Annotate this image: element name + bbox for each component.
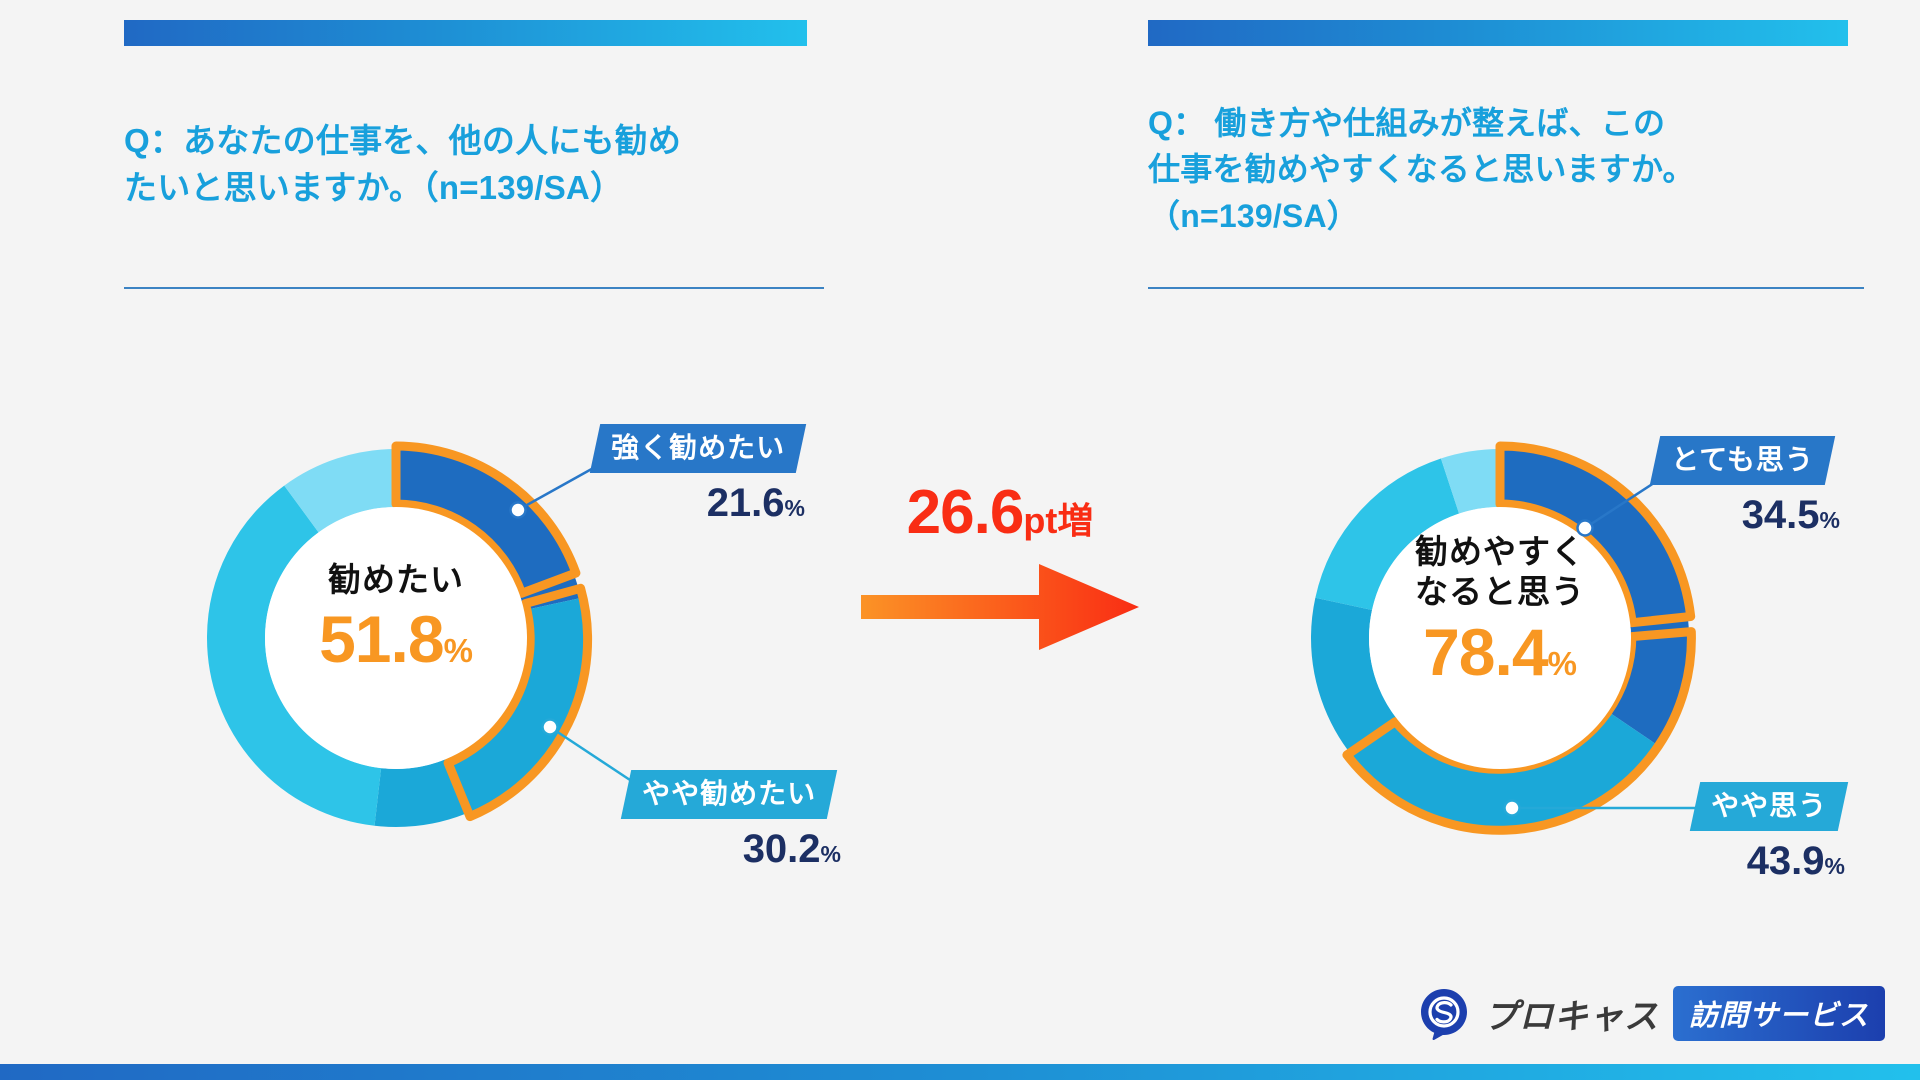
callout-label-right-very: とても思う [1671, 446, 1814, 474]
logo-service-badge: 訪問サービス [1673, 986, 1885, 1041]
callout-number-right-very: 34.5 [1742, 493, 1820, 537]
callout-value-right-somewhat: 43.9% [1695, 839, 1849, 884]
callout-tag-right-very: とても思う [1650, 436, 1835, 485]
delta-unit: pt増 [1023, 500, 1093, 541]
divider-left [124, 287, 824, 289]
question-block-left: Q：あなたの仕事を、他の人にも勧め たいと思いますか。（n=139/SA） [124, 118, 824, 212]
callout-right-very: とても思う 34.5% [1655, 436, 1844, 538]
accent-bar-left [124, 20, 807, 46]
footer-accent-bar [0, 1064, 1920, 1080]
question-text-left: Q：あなたの仕事を、他の人にも勧め たいと思いますか。（n=139/SA） [124, 118, 824, 212]
callout-tag-right-somewhat: やや思う [1690, 782, 1848, 831]
callout-number-left-strong: 21.6 [707, 481, 785, 525]
callout-left-strong: 強く勧めたい 21.6% [595, 424, 809, 526]
donut-chart-left: 勧めたい 51.8% [186, 428, 606, 848]
donut-left-svg [186, 428, 606, 848]
callout-value-left-somewhat: 30.2% [626, 827, 845, 872]
callout-tag-left-somewhat: やや勧めたい [621, 770, 837, 819]
question-block-right: Q： 働き方や仕組みが整えば、この 仕事を勧めやすくなると思いますか。 （n=1… [1148, 100, 1864, 239]
divider-right [1148, 287, 1864, 289]
infographic-canvas: Q：あなたの仕事を、他の人にも勧め たいと思いますか。（n=139/SA） Q：… [0, 0, 1920, 1080]
procas-circle-s-icon [1418, 988, 1470, 1040]
callout-unit-left-somewhat: % [821, 841, 841, 867]
callout-label-right-somewhat: やや思う [1711, 792, 1827, 820]
delta-text: 26.6pt増 [855, 482, 1145, 544]
callout-value-right-very: 34.5% [1655, 493, 1844, 538]
question-text-right: Q： 働き方や仕組みが整えば、この 仕事を勧めやすくなると思いますか。 （n=1… [1148, 100, 1864, 239]
delta-value: 26.6 [907, 478, 1024, 547]
callout-tag-left-strong: 強く勧めたい [590, 424, 806, 473]
delta-block: 26.6pt増 [855, 482, 1145, 655]
callout-unit-right-somewhat: % [1825, 853, 1845, 879]
callout-unit-left-strong: % [785, 495, 805, 521]
donut-hole-left [265, 507, 527, 769]
brand-logo: プロキャス 訪問サービス [1418, 986, 1885, 1041]
callout-label-left-somewhat: やや勧めたい [642, 780, 816, 808]
donut-right-svg [1290, 428, 1710, 848]
callout-label-left-strong: 強く勧めたい [611, 434, 785, 462]
callout-number-left-somewhat: 30.2 [743, 827, 821, 871]
donut-chart-right: 勧めやすく なると思う 78.4% [1290, 428, 1710, 848]
callout-right-somewhat: やや思う 43.9% [1695, 782, 1849, 884]
logo-wordmark: プロキャス [1484, 989, 1659, 1038]
accent-bar-right [1148, 20, 1848, 46]
callout-value-left-strong: 21.6% [595, 481, 809, 526]
callout-number-right-somewhat: 43.9 [1747, 839, 1825, 883]
arrow-right-icon [861, 564, 1139, 650]
donut-hole-right [1369, 507, 1631, 769]
callout-unit-right-very: % [1820, 507, 1840, 533]
callout-left-somewhat: やや勧めたい 30.2% [626, 770, 845, 872]
